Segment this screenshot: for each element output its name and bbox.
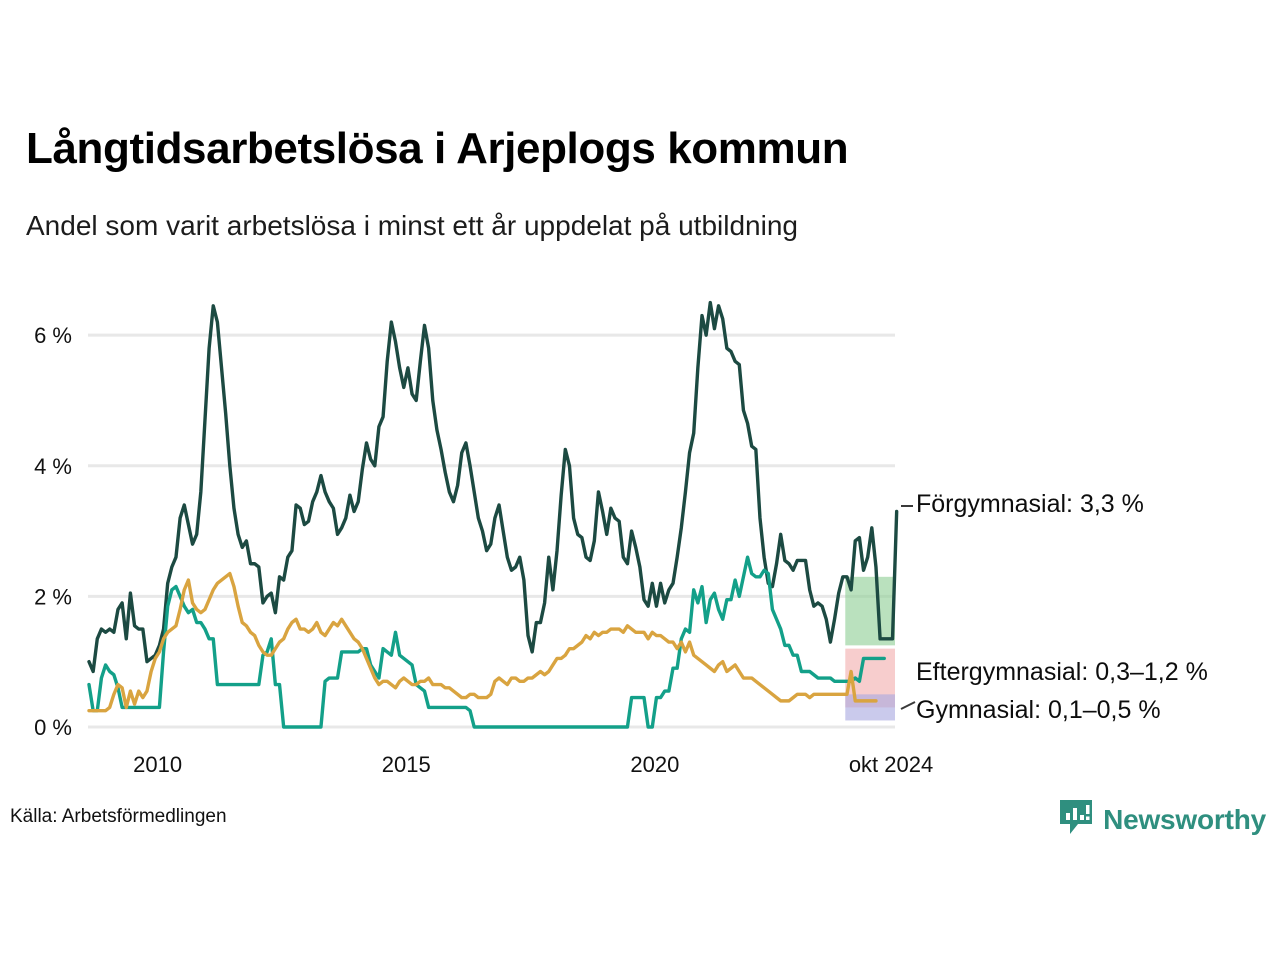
brand-name: Newsworthy <box>1103 804 1266 836</box>
series-line-gymnasial <box>89 574 876 711</box>
series-annotation-forgymnasial: Förgymnasial: 3,3 % <box>916 490 1144 518</box>
series-annotation-gymnasial: Gymnasial: 0,1–0,5 % <box>916 696 1161 724</box>
series-annotation-eftergymnasial: Eftergymnasial: 0,3–1,2 % <box>916 658 1208 686</box>
x-axis-tick-label: 2020 <box>630 752 679 777</box>
y-axis-tick-label: 4 % <box>34 454 72 479</box>
y-axis-tick-label: 2 % <box>34 584 72 609</box>
chart-card: Långtidsarbetslösa i Arjeplogs kommun An… <box>0 0 1280 960</box>
annotation-leader-line <box>901 702 915 709</box>
x-axis-tick-label: okt 2024 <box>849 752 933 777</box>
series-lines-group <box>89 303 897 727</box>
source-note: Källa: Arbetsförmedlingen <box>10 806 227 828</box>
x-axis-tick-label: 2015 <box>382 752 431 777</box>
x-axis-tick-label: 2010 <box>133 752 182 777</box>
y-axis-tick-label: 0 % <box>34 715 72 740</box>
series-annotations-group: Förgymnasial: 3,3 %Eftergymnasial: 0,3–1… <box>901 490 1208 724</box>
brand-logo: Newsworthy <box>1058 798 1266 841</box>
forecast-band-gymnasial <box>845 694 895 720</box>
forecast-bands-group <box>845 577 895 721</box>
speech-bubble-bar-chart-icon <box>1058 798 1094 841</box>
y-axis-ticks-group: 0 %2 %4 %6 % <box>34 323 72 740</box>
y-axis-tick-label: 6 % <box>34 323 72 348</box>
x-axis-ticks-group: 201020152020okt 2024 <box>133 752 933 777</box>
series-line-eftergymnasial <box>89 557 884 727</box>
